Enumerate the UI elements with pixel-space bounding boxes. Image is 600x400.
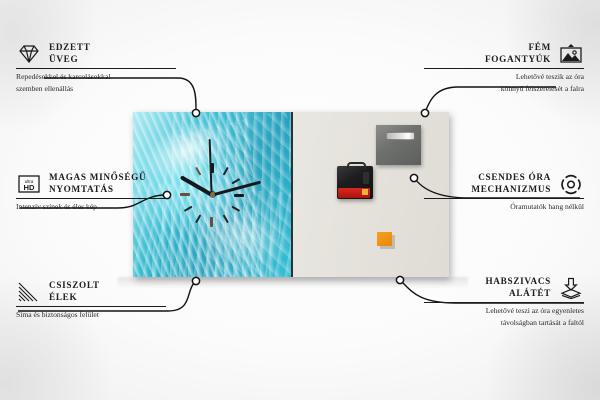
hanger-keyhole-slot xyxy=(386,132,415,140)
callout-header: CSENDES ÓRA MECHANIZMUS xyxy=(424,172,584,195)
callout-rule xyxy=(16,68,176,69)
mechanism-adjust-knob xyxy=(363,172,369,183)
callout-subtitle-line1: Lehetővé teszik az óra xyxy=(424,72,584,81)
quartz-mechanism xyxy=(337,166,373,199)
foam-spacer-pad xyxy=(377,232,392,246)
metal-hanger-plate xyxy=(376,125,421,165)
picture-frame-icon xyxy=(558,43,584,65)
callout-subtitle-line1: Intenzív színek és éles kép xyxy=(16,202,166,211)
battery-plus-marker xyxy=(362,189,368,195)
surface-shadow xyxy=(118,277,468,293)
mechanism-hanger-loop xyxy=(347,162,365,169)
callout-foam-backing: HABSZIVACS ALÁTÉT Lehetővé teszi az óra … xyxy=(424,276,584,328)
polished-edge-icon xyxy=(16,281,42,303)
callout-header: FÉM FOGANTYÚK xyxy=(424,42,584,65)
press-down-layers-icon xyxy=(558,277,584,299)
callout-title: CSISZOLT ÉLEK xyxy=(49,280,100,303)
callout-header: CSISZOLT ÉLEK xyxy=(16,280,166,303)
callout-header: EDZETT ÜVEG xyxy=(16,42,176,65)
diamond-icon xyxy=(16,43,42,65)
callout-title: MAGAS MINŐSÉGŰ NYOMTATÁS xyxy=(49,172,146,195)
callout-subtitle-line1: Repedésekkel és karcolásokkal xyxy=(16,72,176,81)
callout-metal-handles: FÉM FOGANTYÚK Lehetővé teszik az óra kön… xyxy=(424,42,584,94)
callout-subtitle-line2: könnyű felszerelését a falra xyxy=(424,84,584,93)
callout-rule xyxy=(16,306,166,307)
callout-title-line1: HABSZIVACS xyxy=(485,276,551,288)
ultra-hd-icon: ultra HD xyxy=(16,173,42,195)
callout-subtitle-line2: távolságban tartását a faltól xyxy=(424,318,584,327)
callout-title-line1: CSENDES ÓRA xyxy=(471,172,551,184)
callout-rule xyxy=(424,68,584,69)
callout-title-line2: NYOMTATÁS xyxy=(49,184,146,196)
callout-title-line1: FÉM xyxy=(485,42,551,54)
callout-title-line2: ÜVEG xyxy=(49,54,90,66)
callout-title-line2: ALÁTÉT xyxy=(485,288,551,300)
callout-rule xyxy=(424,198,584,199)
svg-text:HD: HD xyxy=(24,183,35,192)
callout-polished-edges: CSISZOLT ÉLEK Sima és biztonságos felüle… xyxy=(16,280,166,319)
callout-title: EDZETT ÜVEG xyxy=(49,42,90,65)
callout-title: CSENDES ÓRA MECHANIZMUS xyxy=(471,172,551,195)
callout-silent-mechanism: CSENDES ÓRA MECHANIZMUS Óramutatók hang … xyxy=(424,172,584,211)
callout-header: ultra HD MAGAS MINŐSÉGŰ NYOMTATÁS xyxy=(16,172,166,195)
callout-title: HABSZIVACS ALÁTÉT xyxy=(485,276,551,299)
gear-icon xyxy=(558,173,584,195)
clock-center-cap xyxy=(210,192,215,197)
callout-subtitle-line1: Lehetővé teszi az óra egyenletes xyxy=(424,306,584,315)
battery-label xyxy=(338,188,370,198)
callout-title-line1: EDZETT xyxy=(49,42,90,54)
callout-title-line1: MAGAS MINŐSÉGŰ xyxy=(49,172,146,184)
callout-tempered-glass: EDZETT ÜVEG Repedésekkel és karcolásokka… xyxy=(16,42,176,94)
callout-rule xyxy=(16,198,166,199)
product-image xyxy=(133,112,449,277)
callout-subtitle-line1: Sima és biztonságos felület xyxy=(16,310,166,319)
callout-title-line2: MECHANIZMUS xyxy=(471,184,551,196)
callout-subtitle-line1: Óramutatók hang nélkül xyxy=(424,202,584,211)
callout-title-line2: FOGANTYÚK xyxy=(485,54,551,66)
callout-title-line1: CSISZOLT xyxy=(49,280,100,292)
callout-title: FÉM FOGANTYÚK xyxy=(485,42,551,65)
callout-rule xyxy=(424,302,584,303)
callout-subtitle-line2: szemben ellenállás xyxy=(16,84,176,93)
callout-title-line2: ÉLEK xyxy=(49,292,100,304)
infographic-canvas: EDZETT ÜVEG Repedésekkel és karcolásokka… xyxy=(0,0,600,400)
callout-high-quality-print: ultra HD MAGAS MINŐSÉGŰ NYOMTATÁS Intenz… xyxy=(16,172,166,211)
callout-header: HABSZIVACS ALÁTÉT xyxy=(424,276,584,299)
